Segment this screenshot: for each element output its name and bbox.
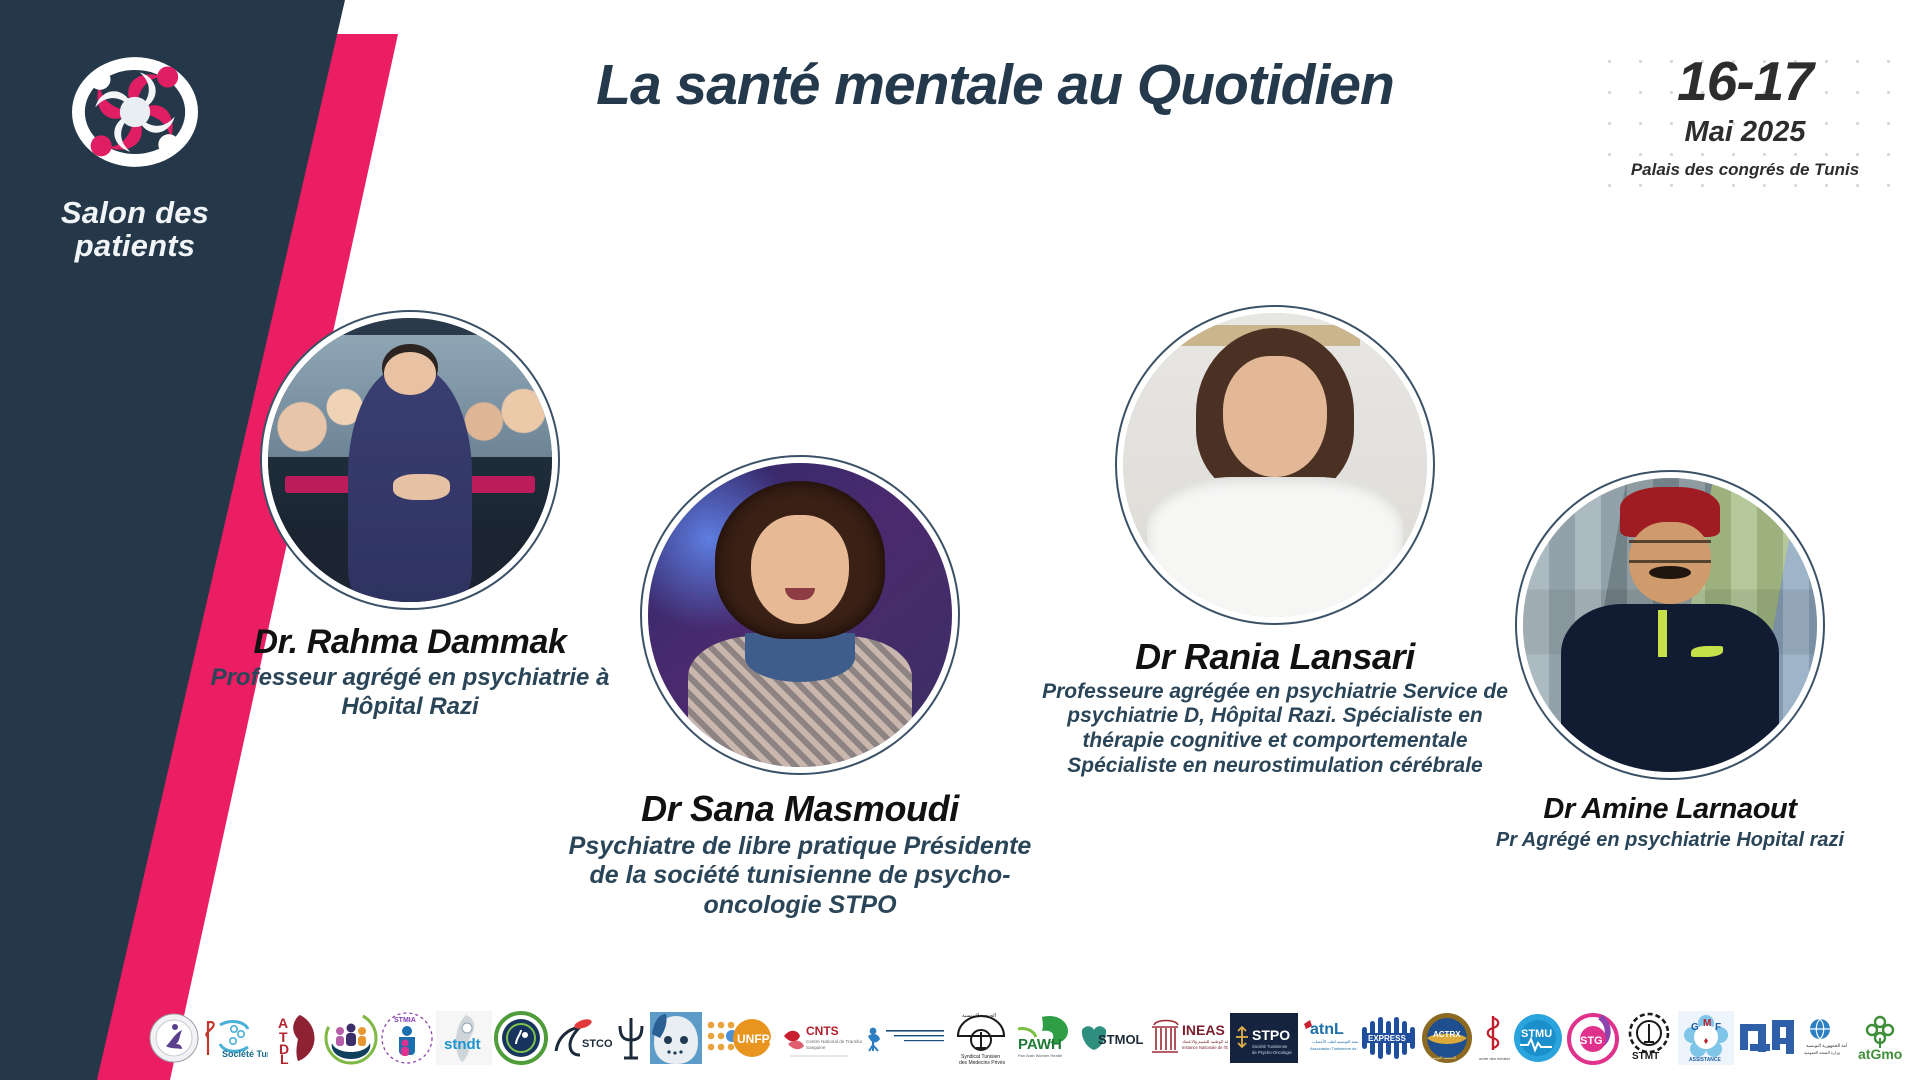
svg-text:F: F [1715, 1022, 1721, 1033]
svg-text:وزارة الصحة العمومية: وزارة الصحة العمومية [1804, 1050, 1840, 1055]
svg-text:L: L [280, 1051, 289, 1065]
speaker-card-rania-lansari: Dr Rania Lansari Professeure agrégée en … [1035, 305, 1515, 779]
svg-text:الهيئة الوطنية للتقييم والاعتم: الهيئة الوطنية للتقييم والاعتماد [1182, 1039, 1228, 1044]
sponsor-logo-stmolp: STMOLP [1076, 1009, 1144, 1067]
speaker-card-amine-larnaout: Dr Amine Larnaout Pr Agrégé en psychiatr… [1475, 470, 1865, 852]
svg-text:EXPRESS: EXPRESS [1368, 1034, 1406, 1043]
speaker-portrait [260, 310, 560, 610]
speaker-photo-sana-masmoudi [648, 463, 952, 767]
svg-text:PAWH: PAWH [1018, 1036, 1062, 1053]
sponsor-logo-caduceus: ordre des médecins [1476, 1009, 1510, 1067]
sponsor-logo-strip: Société Tunisienne ATDL STMIA stndt STCO… [148, 1002, 1908, 1074]
speaker-photo-rania-lansari [1123, 313, 1427, 617]
svg-text:atnL: atnL [1310, 1021, 1344, 1038]
speaker-role: Pr Agrégé en psychiatrie Hopital razi [1475, 829, 1865, 853]
speaker-card-sana-masmoudi: Dr Sana Masmoudi Psychiatre de libre pra… [560, 455, 1040, 920]
svg-text:ASSISTANCE: ASSISTANCE [1689, 1057, 1722, 1063]
sponsor-logo-express: EXPRESS [1360, 1009, 1418, 1067]
sponsor-logo-atgmo: atGmo [1856, 1009, 1918, 1067]
svg-text:Société Tunisienne: Société Tunisienne [1252, 1044, 1288, 1049]
date-block: 16-17 Mai 2025 Palais des congrés de Tun… [1590, 38, 1900, 208]
speaker-role: Professeure agrégée en psychiatrie Servi… [1035, 680, 1515, 779]
speaker-name: Dr Amine Larnaout [1475, 794, 1865, 826]
svg-text:Sanguine: Sanguine [806, 1045, 826, 1050]
svg-text:STCO: STCO [582, 1038, 612, 1050]
brand-title: Salon des patients [61, 196, 209, 263]
svg-text:STG: STG [1580, 1035, 1603, 1047]
brand-block: Salon des patients [0, 42, 270, 263]
speaker-photo-amine-larnaout [1523, 478, 1817, 772]
svg-text:Pan Arab Women Health: Pan Arab Women Health [1018, 1053, 1062, 1058]
svg-text:ordre des médecins: ordre des médecins [1479, 1056, 1510, 1061]
speaker-photo-rahma-dammak [268, 318, 552, 602]
sponsor-logo-psi [614, 1009, 648, 1067]
svg-text:atGmo: atGmo [1858, 1046, 1902, 1062]
sponsor-logo-stg: STG [1566, 1009, 1620, 1067]
speaker-portrait [1115, 305, 1435, 625]
speaker-portrait [1515, 470, 1825, 780]
sponsor-logo-atnl: atnLالجمعية التونسية لطب الأعصابAssociat… [1300, 1009, 1358, 1067]
svg-text:STPO: STPO [1252, 1027, 1290, 1043]
speaker-name: Dr Rania Lansari [1035, 637, 1515, 677]
sponsor-logo-stpo: STPOSociété Tunisiennede Psycho-Oncologi… [1230, 1009, 1298, 1067]
speaker-role: Psychiatre de libre pratique Présidente … [560, 832, 1040, 921]
sponsor-logo-stmi: Société Tunisienne [202, 1009, 268, 1067]
svg-text:INEAS: INEAS [1182, 1022, 1225, 1038]
svg-text:CNTS: CNTS [806, 1024, 839, 1038]
svg-text:Instance Nationale de l'Evalua: Instance Nationale de l'Evaluation [1182, 1045, 1228, 1050]
sponsor-logo-kufic [1736, 1009, 1798, 1067]
sponsor-logo-stmt: STMT [1622, 1009, 1676, 1067]
svg-text:Centre National de Transfusion: Centre National de Transfusion [806, 1039, 862, 1044]
speaker-name: Dr Sana Masmoudi [560, 789, 1040, 829]
event-days: 16-17 [1590, 54, 1900, 109]
speaker-portrait [640, 455, 960, 775]
event-venue: Palais des congrés de Tunis [1590, 159, 1900, 180]
sponsor-logo-pawh: PAWHPan Arab Women Health [1012, 1009, 1074, 1067]
sponsor-logo-stmu: STMU [1512, 1009, 1564, 1067]
sponsor-logo-ministry: أمة الجمهورية التونسيةوزارة الصحة العموم… [1800, 1009, 1854, 1067]
sponsor-logo-stp [148, 1009, 200, 1067]
svg-text:أمة الجمهورية التونسية: أمة الجمهورية التونسية [1806, 1042, 1847, 1048]
poster-canvas: Salon des patients La santé mentale au Q… [0, 0, 1920, 1080]
sponsor-logo-stmia: STMIA [380, 1009, 434, 1067]
brand-title-line2: patients [61, 229, 209, 262]
event-month-year: Mai 2025 [1590, 113, 1900, 152]
sponsor-logo-ineas: INEASالهيئة الوطنية للتقييم والاعتمادIns… [1146, 1009, 1228, 1067]
svg-text:STMOLP: STMOLP [1098, 1032, 1144, 1047]
svg-text:stndt: stndt [444, 1036, 481, 1053]
sponsor-logo-skull [650, 1009, 702, 1067]
svg-text:STMU: STMU [1521, 1028, 1552, 1040]
svg-text:des Medecins Privés: des Medecins Privés [959, 1060, 1006, 1066]
sponsor-logo-cnts: CNTSCentre National de TransfusionSangui… [778, 1009, 862, 1067]
sponsor-logo-green-circle [494, 1009, 548, 1067]
sponsor-logo-family [324, 1009, 378, 1067]
svg-text:STMIA: STMIA [394, 1017, 416, 1024]
sponsor-logo-arabic-assoc [864, 1009, 950, 1067]
sponsor-logo-unfpa: UNFPA [704, 1009, 776, 1067]
svg-text:الجمعية التونسية: الجمعية التونسية [962, 1013, 996, 1019]
sponsor-logo-syndicat: الجمعية التونسيةSyndicat Tunisiendes Med… [952, 1009, 1010, 1067]
svg-text:G: G [1691, 1022, 1699, 1033]
sponsor-logo-atdl: ATDL [270, 1009, 322, 1067]
svg-text:M: M [1703, 1018, 1711, 1029]
svg-text:Société Tunisienne: Société Tunisienne [222, 1049, 268, 1059]
sponsor-logo-stco: STCO [550, 1009, 612, 1067]
svg-text:الجمعية التونسية لطب الأعصاب: الجمعية التونسية لطب الأعصاب [1312, 1039, 1358, 1044]
svg-text:STMT: STMT [1632, 1051, 1659, 1062]
brand-title-line1: Salon des [61, 196, 209, 229]
svg-text:الجمعية التونسية: الجمعية التونسية [1429, 1055, 1456, 1060]
page-title: La santé mentale au Quotidien [480, 52, 1510, 118]
svg-text:de Psycho-Oncologie: de Psycho-Oncologie [1252, 1050, 1292, 1055]
sponsor-logo-gmf: GMFASSISTANCE [1678, 1009, 1734, 1067]
sponsor-logo-stndt: stndt [436, 1009, 492, 1067]
svg-text:ACTRX: ACTRX [1433, 1030, 1461, 1039]
four-people-circle-logo-icon [65, 42, 205, 182]
sponsor-logo-actrx: ACTRXالجمعية التونسية [1420, 1009, 1474, 1067]
svg-text:UNFPA: UNFPA [737, 1032, 776, 1046]
svg-text:Association Tunisienne de Neur: Association Tunisienne de Neurologie [1310, 1046, 1358, 1051]
